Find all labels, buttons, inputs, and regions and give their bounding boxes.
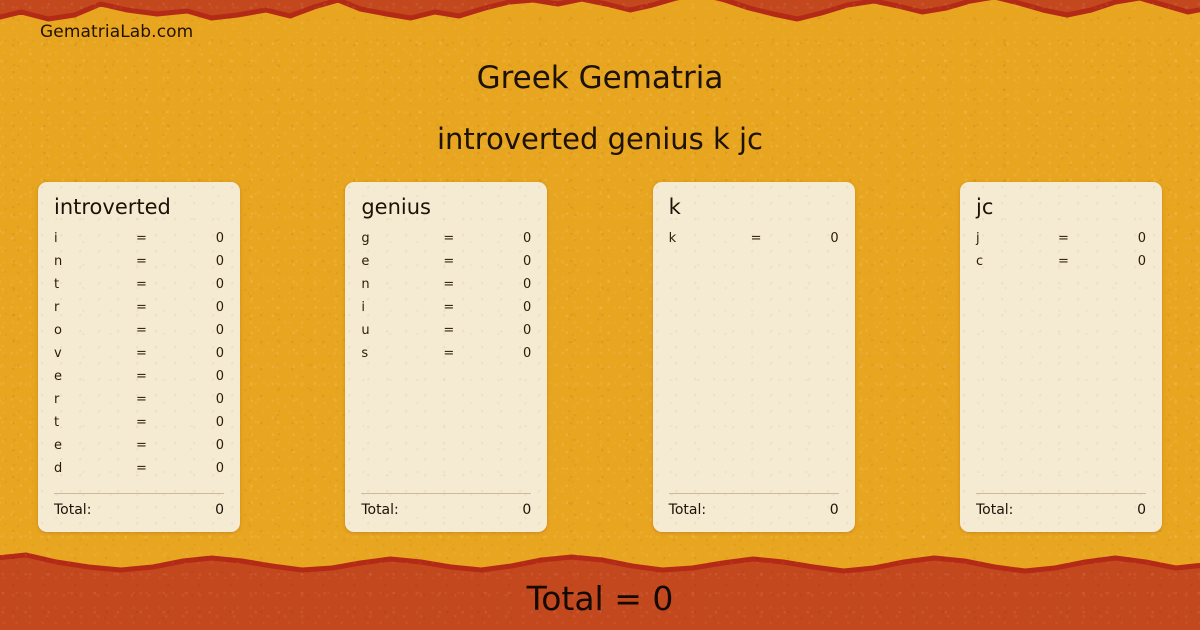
word-cards-container: introvertedi=0n=0t=0r=0o=0v=0e=0r=0t=0e=… <box>38 182 1162 532</box>
letter-value-row: g=0 <box>361 231 531 254</box>
card-word-title: introverted <box>54 196 224 219</box>
card-total-value: 0 <box>522 502 531 518</box>
letter-label: c <box>976 254 1058 269</box>
letter-label: n <box>361 277 443 292</box>
letter-value-row: d=0 <box>54 461 224 484</box>
letter-value: 0 <box>483 254 531 269</box>
letter-label: o <box>54 323 136 338</box>
letter-value-row: j=0 <box>976 231 1146 254</box>
card-total-row: Total:0 <box>669 502 839 518</box>
letter-value: 0 <box>176 346 224 361</box>
equals-sign: = <box>136 461 176 476</box>
letter-value: 0 <box>483 323 531 338</box>
letter-label: r <box>54 392 136 407</box>
letter-value-row: t=0 <box>54 415 224 438</box>
card-divider <box>361 493 531 494</box>
equals-sign: = <box>1058 231 1098 246</box>
letter-value: 0 <box>176 300 224 315</box>
word-card: kk=0Total:0 <box>653 182 855 532</box>
letter-value-row: e=0 <box>361 254 531 277</box>
equals-sign: = <box>136 392 176 407</box>
letter-value: 0 <box>176 438 224 453</box>
letter-label: t <box>54 277 136 292</box>
letter-value-row: s=0 <box>361 346 531 369</box>
letter-value: 0 <box>176 231 224 246</box>
letter-value-row: v=0 <box>54 346 224 369</box>
letter-value: 0 <box>483 300 531 315</box>
letter-value-row: i=0 <box>361 300 531 323</box>
letter-value: 0 <box>176 277 224 292</box>
card-total-label: Total: <box>976 502 1137 518</box>
page-title: Greek Gematria <box>0 60 1200 96</box>
card-divider <box>976 493 1146 494</box>
letter-value: 0 <box>483 277 531 292</box>
letter-value: 0 <box>176 392 224 407</box>
equals-sign: = <box>443 346 483 361</box>
site-logo[interactable]: GematriaLab.com <box>40 22 193 42</box>
letter-value: 0 <box>791 231 839 246</box>
equals-sign: = <box>136 346 176 361</box>
letter-value: 0 <box>176 461 224 476</box>
equals-sign: = <box>443 231 483 246</box>
letter-value: 0 <box>483 346 531 361</box>
letter-label: k <box>669 231 751 246</box>
equals-sign: = <box>136 323 176 338</box>
letter-value-row: e=0 <box>54 369 224 392</box>
equals-sign: = <box>136 369 176 384</box>
equals-sign: = <box>136 277 176 292</box>
letter-value-row: r=0 <box>54 300 224 323</box>
letter-label: s <box>361 346 443 361</box>
word-card: introvertedi=0n=0t=0r=0o=0v=0e=0r=0t=0e=… <box>38 182 240 532</box>
letter-value-row: r=0 <box>54 392 224 415</box>
letter-value: 0 <box>176 369 224 384</box>
card-word-title: k <box>669 196 839 219</box>
letter-value: 0 <box>1098 231 1146 246</box>
equals-sign: = <box>136 300 176 315</box>
letter-label: e <box>54 438 136 453</box>
letter-label: i <box>54 231 136 246</box>
letter-value-row: k=0 <box>669 231 839 254</box>
page-subtitle-phrase: introverted genius k jc <box>0 122 1200 156</box>
letter-label: t <box>54 415 136 430</box>
card-total-value: 0 <box>1137 502 1146 518</box>
word-card: geniusg=0e=0n=0i=0u=0s=0Total:0 <box>345 182 547 532</box>
card-total-label: Total: <box>669 502 830 518</box>
equals-sign: = <box>443 300 483 315</box>
equals-sign: = <box>1058 254 1098 269</box>
equals-sign: = <box>136 254 176 269</box>
letter-value: 0 <box>483 231 531 246</box>
letter-value: 0 <box>176 323 224 338</box>
card-divider <box>669 493 839 494</box>
card-divider <box>54 493 224 494</box>
card-total-value: 0 <box>830 502 839 518</box>
card-total-label: Total: <box>361 502 522 518</box>
letter-label: r <box>54 300 136 315</box>
letter-label: u <box>361 323 443 338</box>
equals-sign: = <box>443 277 483 292</box>
equals-sign: = <box>136 415 176 430</box>
letter-rows: i=0n=0t=0r=0o=0v=0e=0r=0t=0e=0d=0 <box>54 231 224 487</box>
letter-label: e <box>361 254 443 269</box>
card-word-title: genius <box>361 196 531 219</box>
letter-value-row: i=0 <box>54 231 224 254</box>
letter-label: n <box>54 254 136 269</box>
equals-sign: = <box>751 231 791 246</box>
equals-sign: = <box>136 231 176 246</box>
card-total-value: 0 <box>215 502 224 518</box>
letter-value-row: t=0 <box>54 277 224 300</box>
equals-sign: = <box>443 254 483 269</box>
equals-sign: = <box>136 438 176 453</box>
letter-rows: j=0c=0 <box>976 231 1146 487</box>
letter-value: 0 <box>176 415 224 430</box>
equals-sign: = <box>443 323 483 338</box>
card-total-row: Total:0 <box>54 502 224 518</box>
letter-value-row: n=0 <box>361 277 531 300</box>
card-total-row: Total:0 <box>361 502 531 518</box>
letter-value-row: e=0 <box>54 438 224 461</box>
letter-label: d <box>54 461 136 476</box>
letter-value-row: n=0 <box>54 254 224 277</box>
letter-value-row: c=0 <box>976 254 1146 277</box>
letter-value: 0 <box>1098 254 1146 269</box>
word-card: jcj=0c=0Total:0 <box>960 182 1162 532</box>
letter-label: j <box>976 231 1058 246</box>
grand-total: Total = 0 <box>0 579 1200 618</box>
card-total-row: Total:0 <box>976 502 1146 518</box>
card-total-label: Total: <box>54 502 215 518</box>
gematria-result-canvas: GematriaLab.com Greek Gematria introvert… <box>0 0 1200 630</box>
letter-value-row: u=0 <box>361 323 531 346</box>
letter-rows: g=0e=0n=0i=0u=0s=0 <box>361 231 531 487</box>
letter-label: v <box>54 346 136 361</box>
letter-value-row: o=0 <box>54 323 224 346</box>
card-word-title: jc <box>976 196 1146 219</box>
letter-value: 0 <box>176 254 224 269</box>
letter-label: i <box>361 300 443 315</box>
letter-label: g <box>361 231 443 246</box>
letter-label: e <box>54 369 136 384</box>
letter-rows: k=0 <box>669 231 839 487</box>
